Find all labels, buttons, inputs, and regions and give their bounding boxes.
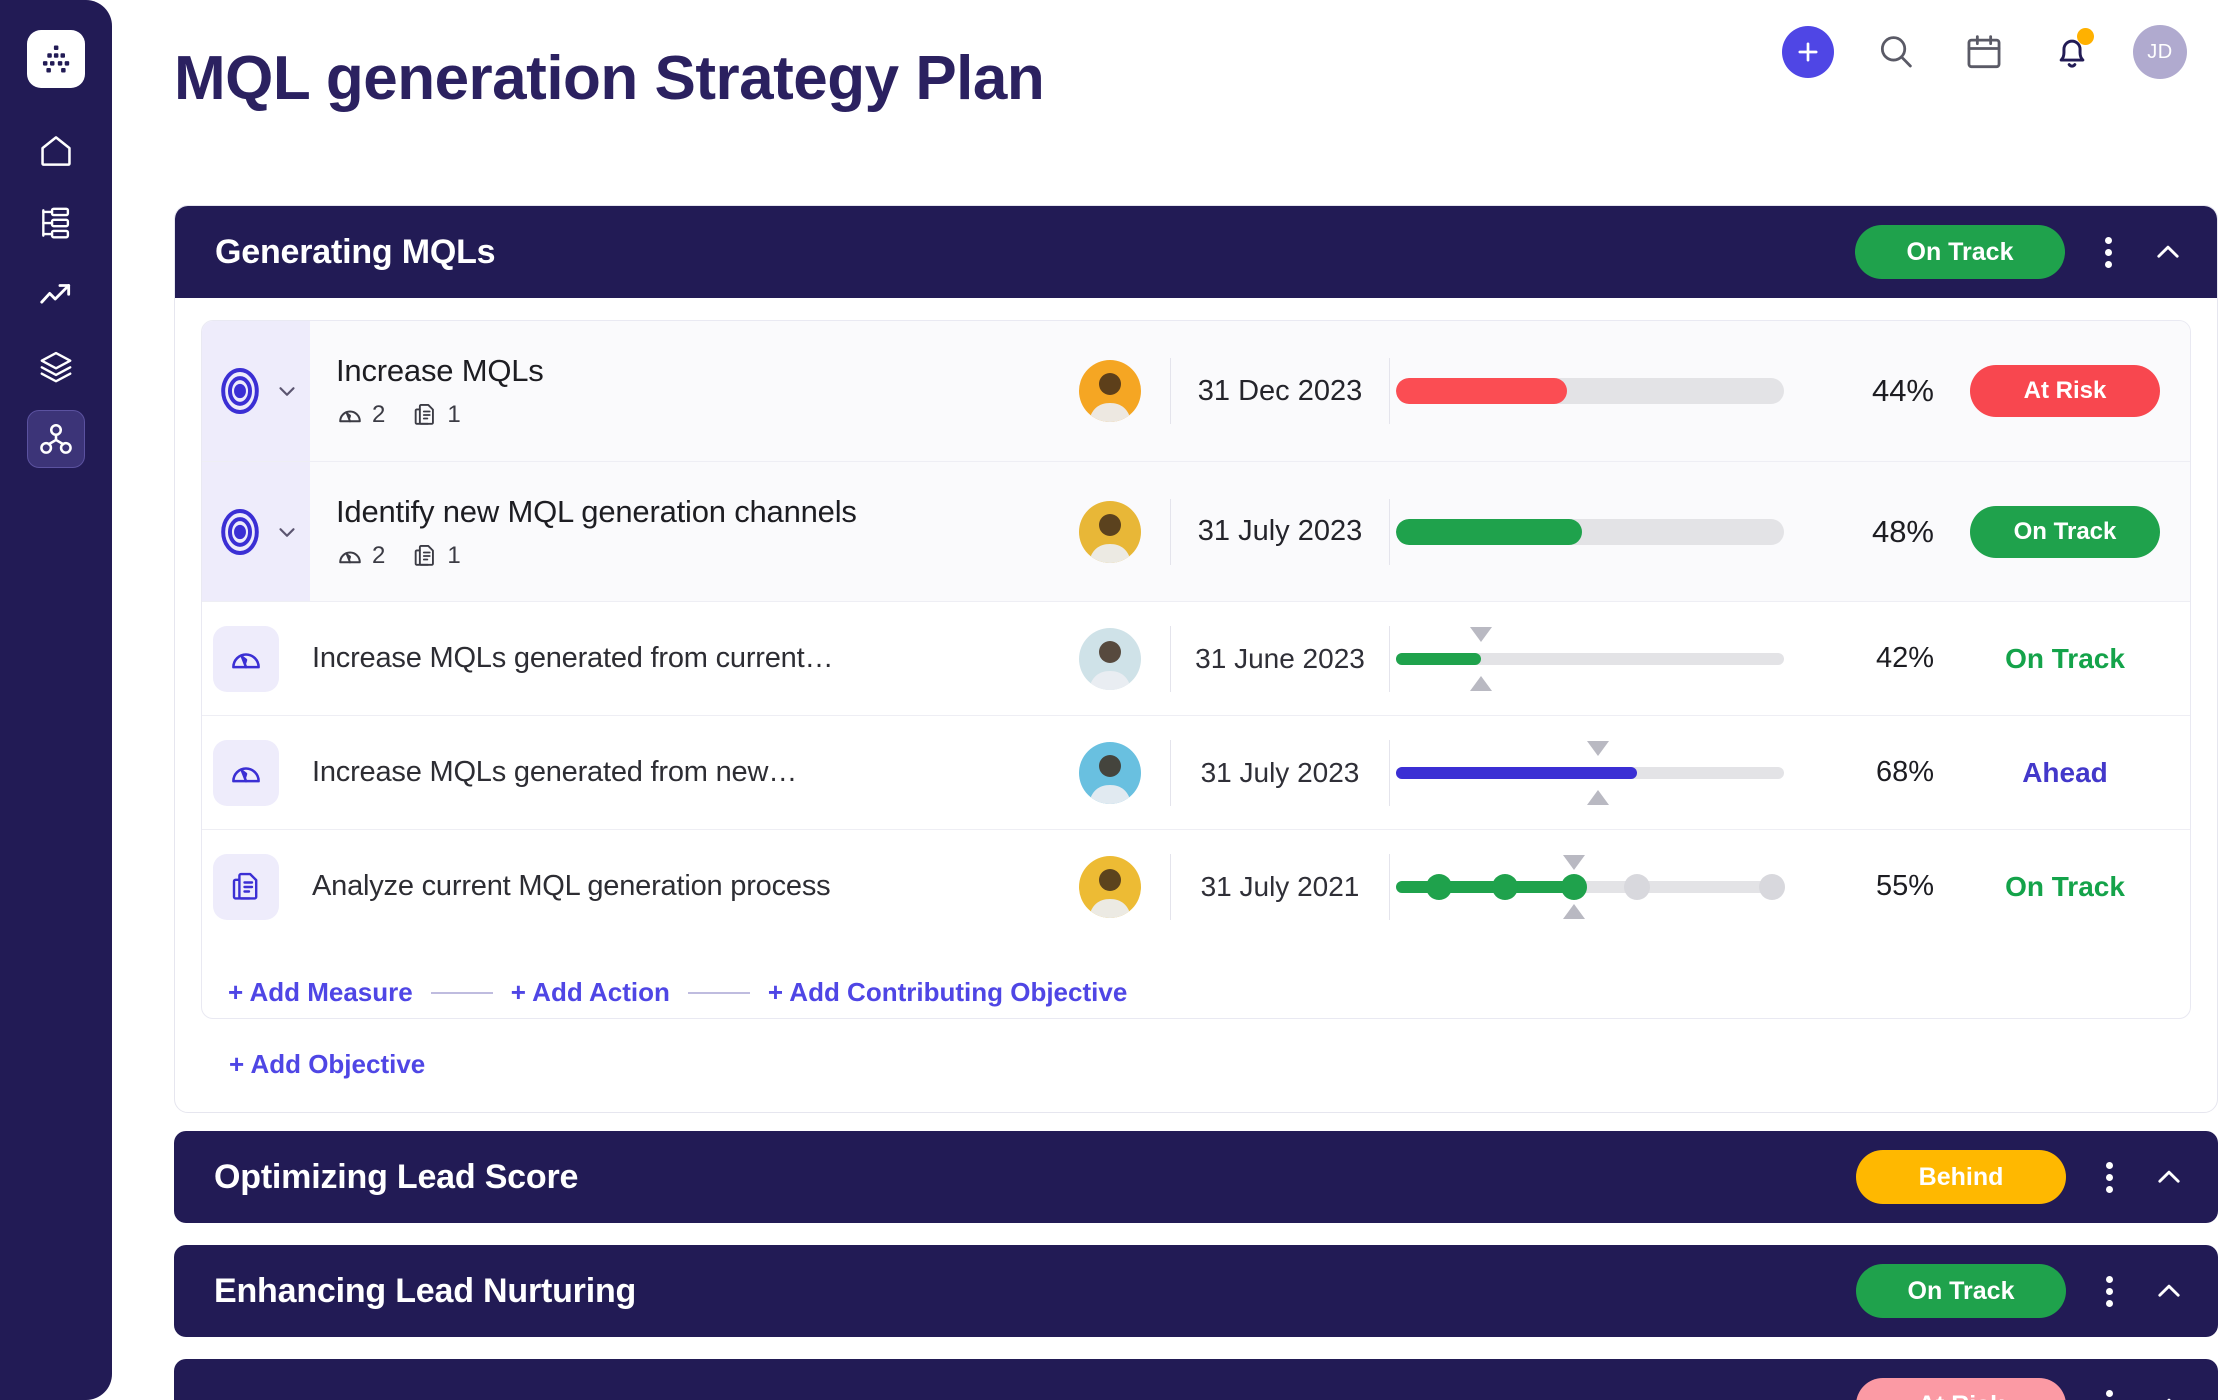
milestone-bar-fill: [1396, 881, 1574, 893]
progress-percent: 48%: [1790, 514, 1940, 550]
sidebar-item-analytics[interactable]: [27, 266, 85, 324]
sidebar: [0, 0, 112, 1400]
section-generating-mqls: Generating MQLs On Track Increase MQLs21…: [174, 205, 2218, 1113]
status-label: On Track: [2005, 643, 2125, 675]
progress-col[interactable]: [1390, 767, 1790, 779]
user-avatar-button[interactable]: JD: [2132, 24, 2188, 80]
owner-avatar-col[interactable]: [1050, 856, 1170, 918]
section-header[interactable]: At Risk: [174, 1359, 2218, 1400]
add-objective-link[interactable]: + Add Objective: [201, 1019, 2191, 1086]
milestone-dot[interactable]: [1561, 874, 1587, 900]
section-title: Enhancing Lead Nurturing: [214, 1272, 1856, 1311]
progress-col[interactable]: [1390, 653, 1790, 665]
search-button[interactable]: [1868, 24, 1924, 80]
chevron-up-icon: [2151, 235, 2185, 269]
action-doc-icon: [411, 542, 439, 570]
network-nodes-icon: [37, 420, 75, 458]
status-badge[interactable]: At Risk: [1856, 1378, 2066, 1400]
row-status[interactable]: On Track: [1940, 871, 2190, 903]
owner-avatar-col[interactable]: [1050, 628, 1170, 690]
owner-avatar: [1079, 501, 1141, 563]
chevron-up-icon: [2152, 1388, 2186, 1400]
add-link[interactable]: + Add Measure: [228, 977, 413, 1008]
avatar-initials: JD: [2133, 25, 2187, 79]
measure-row[interactable]: Analyze current MQL generation process31…: [202, 829, 2190, 943]
measures-count: 2: [336, 401, 385, 429]
section-collapse-toggle[interactable]: [2146, 1160, 2192, 1194]
notifications-button[interactable]: [2044, 24, 2100, 80]
icon-square: [213, 740, 279, 806]
notification-dot: [2077, 28, 2094, 45]
sidebar-item-layers[interactable]: [27, 338, 85, 396]
row-title: Increase MQLs: [336, 353, 1050, 389]
progress-col[interactable]: [1390, 881, 1790, 893]
search-icon: [1875, 31, 1917, 73]
chevron-down-icon: [274, 519, 300, 545]
progress-col[interactable]: [1390, 378, 1790, 404]
add-link[interactable]: + Add Action: [511, 977, 670, 1008]
section-title: Optimizing Lead Score: [214, 1158, 1856, 1197]
target-icon: [212, 363, 268, 419]
action-doc-icon: [228, 869, 264, 905]
row-title: Increase MQLs generated from current…: [312, 642, 1050, 675]
owner-avatar: [1079, 856, 1141, 918]
owner-avatar-col[interactable]: [1050, 501, 1170, 563]
app-root: JD MQL generation Strategy Plan Generati…: [0, 0, 2230, 1400]
objective-list: Increase MQLs2131 Dec 202344%At RiskIden…: [201, 320, 2191, 1019]
section-collapse-toggle[interactable]: [2146, 1274, 2192, 1308]
progress-percent: 68%: [1790, 756, 1940, 789]
gauge-icon: [336, 401, 364, 429]
row-status[interactable]: On Track: [1940, 506, 2190, 558]
due-date: 31 July 2023: [1171, 515, 1389, 548]
layers-icon: [37, 348, 75, 386]
target-icon: [212, 504, 268, 560]
due-date: 31 July 2023: [1171, 757, 1389, 789]
measure-row[interactable]: Increase MQLs generated from new…31 July…: [202, 715, 2190, 829]
section-collapsed-3: At Risk: [174, 1359, 2218, 1400]
status-badge[interactable]: On Track: [1855, 225, 2065, 279]
icon-square: [213, 626, 279, 692]
objective-icon-tile[interactable]: [202, 321, 310, 461]
measure-row[interactable]: Increase MQLs generated from current…31 …: [202, 601, 2190, 715]
target-marker-up: [1587, 741, 1609, 756]
status-label: On Track: [2005, 871, 2125, 903]
section-menu-button[interactable]: [2084, 1390, 2134, 1400]
owner-avatar-col[interactable]: [1050, 742, 1170, 804]
calendar-button[interactable]: [1956, 24, 2012, 80]
page-title: MQL generation Strategy Plan: [174, 48, 1044, 110]
link-divider: [688, 992, 750, 994]
progress-percent: 55%: [1790, 870, 1940, 903]
progress-bar: [1396, 519, 1784, 545]
status-badge[interactable]: Behind: [1856, 1150, 2066, 1204]
org-chart-logo-icon: [38, 41, 74, 77]
section-title: Generating MQLs: [215, 233, 1855, 272]
plus-circle[interactable]: [1782, 26, 1834, 78]
row-status[interactable]: On Track: [1940, 643, 2190, 675]
status-label: Ahead: [2022, 757, 2108, 789]
icon-square: [213, 854, 279, 920]
status-badge[interactable]: On Track: [1970, 506, 2160, 558]
plus-icon: [1794, 38, 1822, 66]
chevron-up-icon: [2152, 1274, 2186, 1308]
sidebar-item-strategy[interactable]: [27, 410, 85, 468]
due-date: 31 Dec 2023: [1171, 375, 1389, 408]
row-status[interactable]: Ahead: [1940, 757, 2190, 789]
row-status[interactable]: At Risk: [1940, 365, 2190, 417]
app-logo[interactable]: [27, 30, 85, 88]
section-collapsed-1: Optimizing Lead Score Behind: [174, 1131, 2218, 1223]
milestone-dot[interactable]: [1759, 874, 1785, 900]
owner-avatar: [1079, 742, 1141, 804]
milestone-dot[interactable]: [1492, 874, 1518, 900]
progress-col[interactable]: [1390, 519, 1790, 545]
row-title: Identify new MQL generation channels: [336, 494, 1050, 530]
section-menu-button[interactable]: [2084, 1276, 2134, 1307]
measure-icon-tile[interactable]: [202, 602, 290, 715]
gauge-icon: [228, 641, 264, 677]
add-link[interactable]: + Add Contributing Objective: [768, 977, 1127, 1008]
measures-count-value: 2: [372, 401, 385, 429]
section-header[interactable]: Enhancing Lead Nurturing On Track: [174, 1245, 2218, 1337]
row-title: Analyze current MQL generation process: [312, 870, 1050, 903]
objective-list-wrap: Increase MQLs2131 Dec 202344%At RiskIden…: [175, 298, 2217, 1112]
sections-container: Generating MQLs On Track Increase MQLs21…: [174, 205, 2218, 1400]
section-collapse-toggle[interactable]: [2145, 235, 2191, 269]
milestone-dot[interactable]: [1624, 874, 1650, 900]
measure-icon-tile[interactable]: [202, 716, 290, 829]
target-marker-up: [1563, 855, 1585, 870]
target-marker-down: [1563, 904, 1585, 919]
row-counts: 21: [336, 401, 1050, 429]
status-badge[interactable]: At Risk: [1970, 365, 2160, 417]
progress-percent: 44%: [1790, 373, 1940, 409]
progress-percent: 42%: [1790, 642, 1940, 675]
section-collapsed-2: Enhancing Lead Nurturing On Track: [174, 1245, 2218, 1337]
actions-count-value: 1: [447, 401, 460, 429]
milestone-bar: [1396, 881, 1784, 893]
due-date: 31 June 2023: [1171, 643, 1389, 675]
owner-avatar: [1079, 628, 1141, 690]
trending-up-icon: [37, 276, 75, 314]
calendar-icon: [1963, 31, 2005, 73]
main-area: JD MQL generation Strategy Plan Generati…: [112, 0, 2230, 1400]
action-doc-icon: [411, 401, 439, 429]
target-marker-down: [1587, 790, 1609, 805]
section-header[interactable]: Generating MQLs On Track: [175, 206, 2217, 298]
progress-slider: [1396, 653, 1784, 665]
gauge-icon: [336, 542, 364, 570]
row-title-col: Analyze current MQL generation process: [290, 870, 1050, 903]
section-menu-button[interactable]: [2083, 237, 2133, 268]
row-title-col: Increase MQLs generated from new…: [290, 756, 1050, 789]
row-title-col: Identify new MQL generation channels21: [310, 494, 1050, 570]
gauge-icon: [228, 755, 264, 791]
sidebar-item-initiatives[interactable]: [27, 194, 85, 252]
measures-count: 2: [336, 542, 385, 570]
progress-bar: [1396, 378, 1784, 404]
due-date: 31 July 2021: [1171, 871, 1389, 903]
actions-count: 1: [411, 401, 460, 429]
chevron-down-icon: [274, 378, 300, 404]
progress-slider-fill: [1396, 653, 1481, 665]
owner-avatar: [1079, 360, 1141, 422]
progress-slider-fill: [1396, 767, 1637, 779]
measures-count-value: 2: [372, 542, 385, 570]
row-title-col: Increase MQLs21: [310, 353, 1050, 429]
sidebar-item-home[interactable]: [27, 122, 85, 180]
actions-count-value: 1: [447, 542, 460, 570]
section-collapse-toggle[interactable]: [2146, 1388, 2192, 1400]
actions-count: 1: [411, 542, 460, 570]
milestone-dot[interactable]: [1426, 874, 1452, 900]
target-marker-down: [1470, 676, 1492, 691]
row-counts: 21: [336, 542, 1050, 570]
objective-icon-tile[interactable]: [202, 462, 310, 601]
row-title-col: Increase MQLs generated from current…: [290, 642, 1050, 675]
section-header[interactable]: Optimizing Lead Score Behind: [174, 1131, 2218, 1223]
progress-bar-fill: [1396, 378, 1567, 404]
list-tree-icon: [37, 204, 75, 242]
home-icon: [37, 132, 75, 170]
owner-avatar-col[interactable]: [1050, 360, 1170, 422]
link-divider: [431, 992, 493, 994]
objective-row[interactable]: Increase MQLs2131 Dec 202344%At Risk: [202, 321, 2190, 461]
add-links-row: + Add Measure+ Add Action+ Add Contribut…: [202, 943, 2190, 1018]
measure-icon-tile[interactable]: [202, 830, 290, 943]
chevron-up-icon: [2152, 1160, 2186, 1194]
section-menu-button[interactable]: [2084, 1162, 2134, 1193]
progress-slider: [1396, 767, 1784, 779]
row-title: Increase MQLs generated from new…: [312, 756, 1050, 789]
objective-row[interactable]: Identify new MQL generation channels2131…: [202, 461, 2190, 601]
add-button[interactable]: [1780, 24, 1836, 80]
status-badge[interactable]: On Track: [1856, 1264, 2066, 1318]
target-marker-up: [1470, 627, 1492, 642]
progress-bar-fill: [1396, 519, 1582, 545]
